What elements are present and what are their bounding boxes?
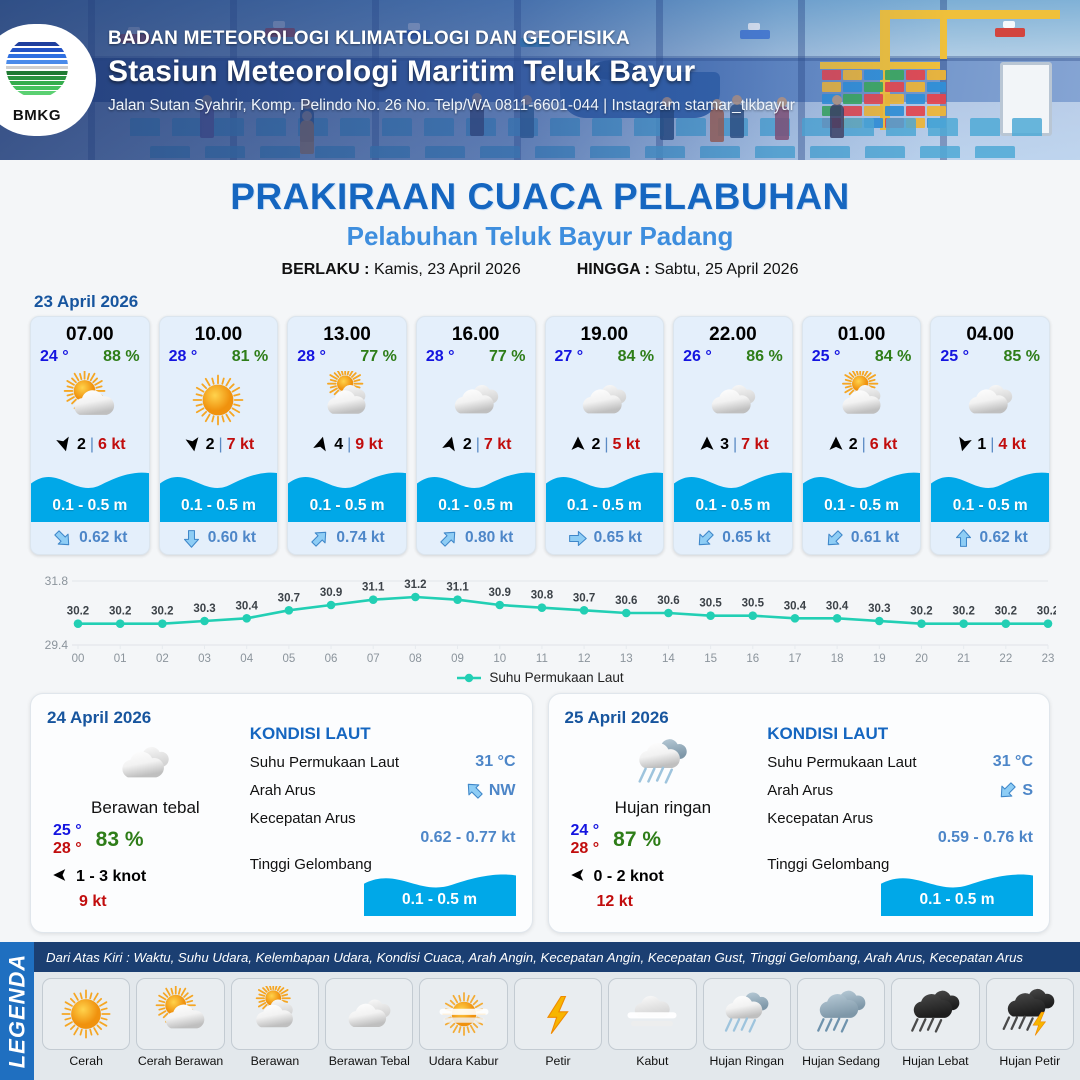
title-block: PRAKIRAAN CUACA PELABUHAN Pelabuhan Telu… [0, 176, 1080, 279]
sst-value: 31 °C [475, 753, 515, 771]
current-speed-label: Kecepatan Arus [250, 810, 356, 827]
validity-row: BERLAKU : Kamis, 23 April 2026 HINGGA : … [0, 261, 1080, 279]
svg-text:19: 19 [873, 653, 886, 665]
card-wind-speed: 2 [77, 436, 86, 454]
legend-item-icon [514, 978, 602, 1050]
hingga-group: HINGGA : Sabtu, 25 April 2026 [577, 261, 799, 279]
svg-text:30.2: 30.2 [67, 606, 89, 618]
card-time: 07.00 [31, 317, 149, 346]
current-direction-arrow-icon [567, 528, 588, 549]
day-temp-humidity: 24 ° 28 ° 87 % [565, 822, 762, 858]
day-humidity: 87 % [613, 828, 661, 852]
svg-text:30.2: 30.2 [1037, 606, 1056, 618]
card-humidity: 77 % [360, 348, 396, 366]
day-wave-height-value: 0.1 - 0.5 m [364, 891, 516, 909]
legend-note: Dari Atas Kiri : Waktu, Suhu Udara, Kele… [34, 942, 1080, 972]
legend-item-label: Hujan Sedang [802, 1054, 880, 1068]
card-wave-height: 0.1 - 0.5 m [160, 497, 278, 515]
card-gust: 7 kt [741, 436, 769, 454]
sea-conditions-title: KONDISI LAUT [250, 724, 516, 744]
current-speed-value: 0.59 - 0.76 kt [767, 829, 1033, 847]
current-direction-value-group: S [997, 780, 1033, 801]
svg-text:06: 06 [325, 653, 338, 665]
card-current-row: 0.62 kt [31, 522, 149, 554]
sst-label: Suhu Permukaan Laut [767, 754, 916, 771]
svg-text:30.2: 30.2 [151, 606, 173, 618]
svg-text:20: 20 [915, 653, 928, 665]
legend-item-icon [231, 978, 319, 1050]
card-temperature: 28 ° [297, 348, 326, 366]
card-wave-block: 0.1 - 0.5 m [31, 460, 149, 522]
legend-item-icon [703, 978, 791, 1050]
current-direction-label: Arah Arus [250, 782, 316, 799]
svg-text:13: 13 [620, 653, 633, 665]
svg-text:30.9: 30.9 [489, 587, 511, 599]
day-wind-direction-arrow-icon [569, 866, 587, 889]
card-gust: 5 kt [613, 436, 641, 454]
day-wave-block: 0.1 - 0.5 m [881, 864, 1033, 916]
wind-direction-arrow-icon [440, 434, 460, 457]
card-humidity: 85 % [1004, 348, 1040, 366]
card-humidity: 77 % [489, 348, 525, 366]
svg-text:29.4: 29.4 [45, 638, 69, 652]
current-direction-value: S [1022, 782, 1033, 800]
forecast-card[interactable]: 10.00 28 ° 81 % 2 | 7 kt 0.1 - 0.5 m 0.6… [159, 316, 279, 555]
day-temp-humidity: 25 ° 28 ° 83 % [47, 822, 244, 858]
day-wind-direction-arrow-icon [51, 866, 69, 889]
wind-direction-arrow-icon [826, 434, 846, 457]
current-direction-arrow-icon [181, 528, 202, 549]
forecast-card[interactable]: 13.00 28 ° 77 % 4 | 9 kt 0.1 - 0.5 m [287, 316, 407, 555]
svg-text:02: 02 [156, 653, 169, 665]
card-wave-block: 0.1 - 0.5 m [674, 460, 792, 522]
card-temperature: 27 ° [555, 348, 584, 366]
sst-label: Suhu Permukaan Laut [250, 754, 399, 771]
svg-text:10: 10 [493, 653, 506, 665]
current-direction-value: NW [489, 782, 516, 800]
svg-text:30.4: 30.4 [236, 600, 259, 612]
day-condition: Hujan ringan [565, 798, 762, 818]
card-humidity: 86 % [746, 348, 782, 366]
card-weather-icon [931, 368, 1049, 431]
legend-item-icon [797, 978, 885, 1050]
hingga-label: HINGGA : [577, 261, 650, 278]
forecast-card[interactable]: 01.00 25 ° 84 % 2 | 6 kt 0.1 - 0.5 m [802, 316, 922, 555]
svg-text:31.2: 31.2 [404, 579, 426, 591]
svg-text:30.6: 30.6 [657, 595, 679, 607]
card-time: 04.00 [931, 317, 1049, 346]
card-current-row: 0.65 kt [546, 522, 664, 554]
card-wave-height: 0.1 - 0.5 m [31, 497, 149, 515]
card-wind-row: 2 | 6 kt [31, 431, 149, 459]
card-humidity: 88 % [103, 348, 139, 366]
day-left-column: 25 April 2026 Hujan ringan 24 ° 28 ° 87 … [565, 708, 762, 918]
svg-text:12: 12 [578, 653, 591, 665]
day-weather-icon [47, 732, 244, 794]
wind-separator: | [990, 436, 994, 454]
card-wave-height: 0.1 - 0.5 m [546, 497, 664, 515]
wave-height-label: Tinggi Gelombang [767, 856, 889, 873]
svg-text:30.5: 30.5 [742, 598, 765, 610]
card-weather-icon [160, 368, 278, 431]
legend-item: Hujan Lebat [891, 978, 979, 1080]
card-wind-speed: 3 [720, 436, 729, 454]
card-current-speed: 0.65 kt [594, 529, 642, 547]
legend-item-label: Cerah Berawan [138, 1054, 223, 1068]
card-current-speed: 0.74 kt [336, 529, 384, 547]
card-temp-humidity: 28 ° 81 % [160, 346, 278, 366]
card-wind-speed: 1 [977, 436, 986, 454]
card-wave-block: 0.1 - 0.5 m [546, 460, 664, 522]
svg-text:08: 08 [409, 653, 422, 665]
svg-text:30.7: 30.7 [278, 592, 300, 604]
wind-separator: | [347, 436, 351, 454]
legend-item-icon [136, 978, 224, 1050]
card-wave-height: 0.1 - 0.5 m [288, 497, 406, 515]
current-direction-value-group: NW [464, 780, 516, 801]
day-wind-range: 0 - 2 knot [594, 868, 664, 886]
card-current-speed: 0.65 kt [722, 529, 770, 547]
svg-text:23: 23 [1042, 653, 1055, 665]
berlaku-group: BERLAKU : Kamis, 23 April 2026 [282, 261, 521, 279]
svg-text:30.9: 30.9 [320, 587, 342, 599]
card-wind-speed: 2 [849, 436, 858, 454]
wind-separator: | [90, 436, 94, 454]
card-wave-block: 0.1 - 0.5 m [931, 460, 1049, 522]
legend-item: Hujan Sedang [797, 978, 885, 1080]
legend-item-icon [325, 978, 413, 1050]
svg-text:31.1: 31.1 [446, 582, 469, 594]
day-temp-max: 28 ° [53, 840, 82, 858]
card-temp-humidity: 24 ° 88 % [31, 346, 149, 366]
legend-item-icon [608, 978, 696, 1050]
current-direction-arrow-icon [52, 528, 73, 549]
svg-text:09: 09 [451, 653, 464, 665]
forecast-date-label: 23 April 2026 [34, 292, 1080, 312]
station-address: Jalan Sutan Syahrir, Komp. Pelindo No. 2… [108, 97, 795, 115]
day-current-direction-arrow-icon [464, 780, 485, 801]
day-sea-conditions: KONDISI LAUT Suhu Permukaan Laut 31 °C A… [244, 708, 516, 918]
card-temp-humidity: 25 ° 84 % [803, 346, 921, 366]
wind-separator: | [604, 436, 608, 454]
wind-separator: | [862, 436, 866, 454]
card-wave-height: 0.1 - 0.5 m [803, 497, 921, 515]
wave-height-label: Tinggi Gelombang [250, 856, 372, 873]
card-gust: 6 kt [870, 436, 898, 454]
card-gust: 6 kt [98, 436, 126, 454]
current-speed-row: Kecepatan Arus [767, 810, 1033, 827]
forecast-card[interactable]: 22.00 26 ° 86 % 3 | 7 kt 0.1 - 0.5 m [673, 316, 793, 555]
svg-text:18: 18 [831, 653, 844, 665]
day-temp-min: 24 ° [571, 822, 600, 840]
card-temp-humidity: 28 ° 77 % [288, 346, 406, 366]
bmkg-emblem-icon [6, 36, 68, 98]
wind-direction-arrow-icon [183, 434, 203, 457]
current-speed-value: 0.62 - 0.77 kt [250, 829, 516, 847]
legend-item: Kabut [608, 978, 696, 1080]
day-sea-conditions: KONDISI LAUT Suhu Permukaan Laut 31 °C A… [761, 708, 1033, 918]
card-wave-block: 0.1 - 0.5 m [417, 460, 535, 522]
page-header: BMKG BADAN METEOROLOGI KLIMATOLOGI DAN G… [0, 0, 1080, 160]
legend-item-label: Kabut [636, 1054, 668, 1068]
page-title: PRAKIRAAN CUACA PELABUHAN [0, 176, 1080, 218]
card-temperature: 25 ° [812, 348, 841, 366]
card-wind-row: 2 | 7 kt [160, 431, 278, 459]
chart-legend: Suhu Permukaan Laut [24, 670, 1056, 685]
card-current-row: 0.74 kt [288, 522, 406, 554]
svg-text:30.6: 30.6 [615, 595, 637, 607]
svg-text:30.4: 30.4 [784, 600, 807, 612]
svg-text:14: 14 [662, 653, 675, 665]
svg-text:30.2: 30.2 [952, 606, 974, 618]
day-gust: 12 kt [565, 893, 762, 911]
current-direction-label: Arah Arus [767, 782, 833, 799]
legend-item: Hujan Ringan [703, 978, 791, 1080]
day-summary-panel[interactable]: 24 April 2026 Berawan tebal 25 ° 28 ° 83… [30, 693, 533, 933]
current-direction-arrow-icon [824, 528, 845, 549]
card-wind-row: 3 | 7 kt [674, 431, 792, 459]
current-direction-row: Arah Arus NW [250, 780, 516, 801]
svg-text:30.2: 30.2 [910, 606, 932, 618]
card-temperature: 24 ° [40, 348, 69, 366]
card-temp-humidity: 26 ° 86 % [674, 346, 792, 366]
header-text-block: BADAN METEOROLOGI KLIMATOLOGI DAN GEOFIS… [108, 28, 795, 115]
berlaku-value: Kamis, 23 April 2026 [374, 261, 521, 278]
svg-text:01: 01 [114, 653, 127, 665]
agency-name: BADAN METEOROLOGI KLIMATOLOGI DAN GEOFIS… [108, 28, 795, 50]
card-weather-icon [546, 368, 664, 431]
current-speed-label: Kecepatan Arus [767, 810, 873, 827]
forecast-card[interactable]: 04.00 25 ° 85 % 1 | 4 kt 0.1 - 0.5 m [930, 316, 1050, 555]
sea-conditions-title: KONDISI LAUT [767, 724, 1033, 744]
legend-item-label: Hujan Ringan [709, 1054, 784, 1068]
svg-text:05: 05 [282, 653, 295, 665]
day-wave-block: 0.1 - 0.5 m [364, 864, 516, 916]
legend-item: Berawan [231, 978, 319, 1080]
card-gust: 4 kt [998, 436, 1026, 454]
current-speed-row: Kecepatan Arus [250, 810, 516, 827]
svg-text:30.2: 30.2 [109, 606, 131, 618]
card-weather-icon [674, 368, 792, 431]
card-wave-height: 0.1 - 0.5 m [674, 497, 792, 515]
card-wave-block: 0.1 - 0.5 m [288, 460, 406, 522]
card-wave-block: 0.1 - 0.5 m [803, 460, 921, 522]
card-weather-icon [803, 368, 921, 431]
legend-item-icon [42, 978, 130, 1050]
card-humidity: 84 % [875, 348, 911, 366]
day-weather-icon [565, 732, 762, 794]
card-wind-speed: 4 [334, 436, 343, 454]
svg-text:22: 22 [999, 653, 1012, 665]
day-date: 24 April 2026 [47, 708, 244, 728]
day-current-direction-arrow-icon [997, 780, 1018, 801]
sst-row: Suhu Permukaan Laut 31 °C [767, 753, 1033, 771]
card-wind-row: 2 | 5 kt [546, 431, 664, 459]
card-temp-humidity: 28 ° 77 % [417, 346, 535, 366]
svg-text:30.4: 30.4 [826, 600, 849, 612]
wind-separator: | [219, 436, 223, 454]
day-wave-height-value: 0.1 - 0.5 m [881, 891, 1033, 909]
card-wind-row: 1 | 4 kt [931, 431, 1049, 459]
card-current-row: 0.60 kt [160, 522, 278, 554]
day-summary-panel[interactable]: 25 April 2026 Hujan ringan 24 ° 28 ° 87 … [548, 693, 1051, 933]
card-gust: 7 kt [227, 436, 255, 454]
station-name: Stasiun Meteorologi Maritim Teluk Bayur [108, 55, 795, 89]
card-time: 01.00 [803, 317, 921, 346]
svg-text:17: 17 [789, 653, 802, 665]
wind-separator: | [476, 436, 480, 454]
legend-icon-list: Cerah Cerah Berawan Berawan [34, 972, 1080, 1080]
card-humidity: 84 % [618, 348, 654, 366]
card-time: 10.00 [160, 317, 278, 346]
wind-direction-arrow-icon [697, 434, 717, 457]
svg-text:16: 16 [746, 653, 759, 665]
legend-item-icon [986, 978, 1074, 1050]
card-wave-height: 0.1 - 0.5 m [931, 497, 1049, 515]
card-wave-block: 0.1 - 0.5 m [160, 460, 278, 522]
legend-item-icon [891, 978, 979, 1050]
legend-item: Petir [514, 978, 602, 1080]
svg-text:30.5: 30.5 [699, 598, 722, 610]
card-current-speed: 0.62 kt [79, 529, 127, 547]
card-weather-icon [288, 368, 406, 431]
card-humidity: 81 % [232, 348, 268, 366]
wind-direction-arrow-icon [54, 434, 74, 457]
card-current-row: 0.61 kt [803, 522, 921, 554]
wind-separator: | [733, 436, 737, 454]
card-wind-row: 2 | 7 kt [417, 431, 535, 459]
card-current-speed: 0.61 kt [851, 529, 899, 547]
legend-item-label: Berawan Tebal [329, 1054, 410, 1068]
svg-text:11: 11 [536, 653, 548, 665]
day-temp-min: 25 ° [53, 822, 82, 840]
legend-item: Hujan Petir [986, 978, 1074, 1080]
current-direction-arrow-icon [953, 528, 974, 549]
card-current-row: 0.80 kt [417, 522, 535, 554]
wind-direction-arrow-icon [311, 434, 331, 457]
svg-text:30.2: 30.2 [995, 606, 1017, 618]
svg-text:07: 07 [367, 653, 380, 665]
svg-text:03: 03 [198, 653, 211, 665]
legend-item: Cerah [42, 978, 130, 1080]
card-temp-humidity: 27 ° 84 % [546, 346, 664, 366]
day-date: 25 April 2026 [565, 708, 762, 728]
current-direction-arrow-icon [695, 528, 716, 549]
current-direction-arrow-icon [309, 528, 330, 549]
sst-value: 31 °C [993, 753, 1033, 771]
legend-item-label: Hujan Lebat [902, 1054, 968, 1068]
card-time: 19.00 [546, 317, 664, 346]
svg-text:30.3: 30.3 [193, 603, 215, 615]
legend-item: Berawan Tebal [325, 978, 413, 1080]
card-time: 13.00 [288, 317, 406, 346]
day-gust: 9 kt [47, 893, 244, 911]
legend-item-icon [419, 978, 507, 1050]
card-temperature: 26 ° [683, 348, 712, 366]
bmkg-logo-text: BMKG [0, 107, 74, 124]
legend-item: Cerah Berawan [136, 978, 224, 1080]
day-left-column: 24 April 2026 Berawan tebal 25 ° 28 ° 83… [47, 708, 244, 918]
forecast-card-list: 07.00 24 ° 88 % 2 | 6 kt 0.1 - 0.5 m 0.6 [0, 316, 1080, 555]
card-time: 16.00 [417, 317, 535, 346]
card-wind-speed: 2 [591, 436, 600, 454]
wind-direction-arrow-icon [568, 434, 588, 457]
day-wind-row: 1 - 3 knot [47, 866, 244, 889]
day-humidity: 83 % [96, 828, 144, 852]
legend-section: LEGENDA Dari Atas Kiri : Waktu, Suhu Uda… [0, 942, 1080, 1080]
legend-side-bar: LEGENDA [0, 942, 34, 1080]
card-current-row: 0.62 kt [931, 522, 1049, 554]
page-subtitle: Pelabuhan Teluk Bayur Padang [0, 221, 1080, 252]
legend-item-label: Hujan Petir [999, 1054, 1060, 1068]
svg-text:04: 04 [240, 653, 253, 665]
sst-chart: 31.829.430.20030.20130.20230.30330.40430… [24, 569, 1056, 685]
legend-side-label: LEGENDA [4, 954, 30, 1069]
card-wave-height: 0.1 - 0.5 m [417, 497, 535, 515]
svg-text:21: 21 [957, 653, 970, 665]
card-current-row: 0.65 kt [674, 522, 792, 554]
forecast-card[interactable]: 19.00 27 ° 84 % 2 | 5 kt 0.1 - 0.5 m [545, 316, 665, 555]
forecast-card[interactable]: 07.00 24 ° 88 % 2 | 6 kt 0.1 - 0.5 m 0.6 [30, 316, 150, 555]
svg-text:30.7: 30.7 [573, 592, 595, 604]
legend-item-label: Udara Kabur [429, 1054, 499, 1068]
wind-direction-arrow-icon [954, 434, 974, 457]
berlaku-label: BERLAKU : [282, 261, 370, 278]
svg-text:30.8: 30.8 [531, 590, 554, 602]
day-condition: Berawan tebal [47, 798, 244, 818]
day-temp-max: 28 ° [571, 840, 600, 858]
card-temp-humidity: 25 ° 85 % [931, 346, 1049, 366]
svg-text:00: 00 [72, 653, 85, 665]
legend-item-label: Cerah [69, 1054, 103, 1068]
svg-text:31.8: 31.8 [45, 574, 69, 588]
card-wind-speed: 2 [206, 436, 215, 454]
card-temperature: 28 ° [426, 348, 455, 366]
chart-legend-marker-icon [456, 672, 482, 684]
day-wind-row: 0 - 2 knot [565, 866, 762, 889]
sst-row: Suhu Permukaan Laut 31 °C [250, 753, 516, 771]
card-weather-icon [417, 368, 535, 431]
svg-text:15: 15 [704, 653, 717, 665]
card-temperature: 28 ° [169, 348, 198, 366]
current-direction-row: Arah Arus S [767, 780, 1033, 801]
day-wind-range: 1 - 3 knot [76, 868, 146, 886]
day-summary-list: 24 April 2026 Berawan tebal 25 ° 28 ° 83… [0, 693, 1080, 933]
card-current-speed: 0.80 kt [465, 529, 513, 547]
card-gust: 7 kt [484, 436, 512, 454]
forecast-card[interactable]: 16.00 28 ° 77 % 2 | 7 kt 0.1 - 0.5 m [416, 316, 536, 555]
card-weather-icon [31, 368, 149, 431]
legend-item: Udara Kabur [419, 978, 507, 1080]
card-wind-row: 4 | 9 kt [288, 431, 406, 459]
svg-text:31.1: 31.1 [362, 582, 385, 594]
hingga-value: Sabtu, 25 April 2026 [654, 261, 798, 278]
card-wind-row: 2 | 6 kt [803, 431, 921, 459]
legend-item-label: Berawan [251, 1054, 300, 1068]
card-time: 22.00 [674, 317, 792, 346]
card-temperature: 25 ° [940, 348, 969, 366]
current-direction-arrow-icon [438, 528, 459, 549]
legend-item-label: Petir [545, 1054, 570, 1068]
card-current-speed: 0.62 kt [980, 529, 1028, 547]
card-wind-speed: 2 [463, 436, 472, 454]
card-current-speed: 0.60 kt [208, 529, 256, 547]
chart-legend-label: Suhu Permukaan Laut [489, 670, 623, 685]
card-gust: 9 kt [355, 436, 383, 454]
svg-text:30.3: 30.3 [868, 603, 890, 615]
